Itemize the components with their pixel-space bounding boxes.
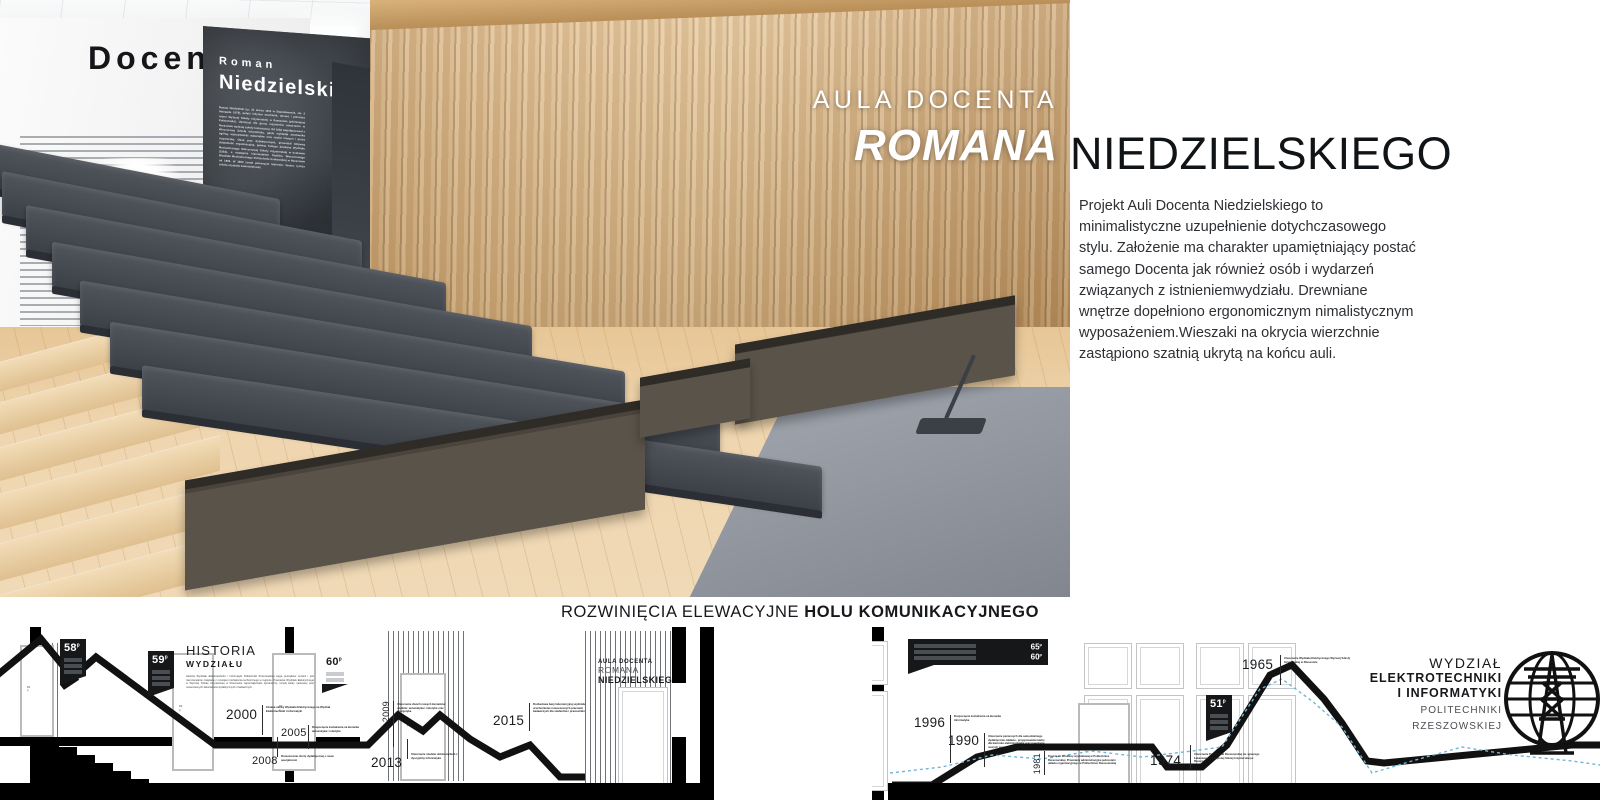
room-number: 58p	[60, 639, 86, 656]
microphone-base	[915, 418, 987, 434]
memorial-bio-text: Roman Niedzielski (ur. 21 marca 1911 w S…	[219, 106, 305, 174]
year-marker: 2009	[381, 701, 391, 722]
year-marker: 2013	[371, 755, 402, 770]
year-marker: 2008	[252, 755, 278, 767]
history-title: HISTORIA	[186, 643, 314, 658]
hero-title-italic: ROMANA	[813, 121, 1058, 171]
presentation-board: Docent Roman Niedzielski Roman Niedziels…	[0, 0, 1600, 800]
room-number: 51p	[1206, 695, 1232, 712]
faculty-logo-text: WYDZIAŁ ELEKTROTECHNIKI I INFORMATYKI PO…	[1302, 655, 1502, 733]
pylon-globe-logo-icon	[1502, 649, 1600, 759]
section-header-light: ROZWINIĘCIA ELEWACYJNE	[561, 603, 804, 621]
year-marker: 2000	[226, 707, 257, 722]
hero-title-overlay: AULA DOCENTA ROMANA	[813, 86, 1058, 171]
year-note: Rozpoczęcie kształcenia na kierunku auto…	[312, 726, 368, 733]
aula-label-line3: NIEDZIELSKIEGO	[598, 675, 680, 685]
leader-line	[1280, 655, 1281, 685]
year-note: Utworzenie pierwszych dla samodzielnego …	[988, 735, 1046, 749]
leader-line	[1190, 745, 1191, 769]
history-subtitle: WYDZIAŁU	[186, 659, 314, 669]
year-marker: 1996	[914, 715, 945, 730]
ground-line	[0, 783, 700, 800]
history-paragraph: Historia Wydziału Elektrotechniki i Info…	[186, 675, 314, 690]
elevation-drawing-left: D1p D2p D3p D4p 58p 59p 60p 61p	[0, 627, 714, 800]
year-note: Powrót do struktury wydziałowej w Polite…	[1048, 755, 1122, 766]
history-block: HISTORIA WYDZIAŁU Historia Wydziału Elek…	[186, 643, 314, 690]
logo-line-1: WYDZIAŁ	[1302, 655, 1502, 671]
logo-line-5: RZESZOWSKIEJ	[1302, 720, 1502, 733]
year-marker: 2005	[281, 727, 307, 739]
project-description-text: Projekt Auli Docenta Niedzielskiego to m…	[1079, 196, 1419, 366]
wall-end	[700, 627, 714, 800]
year-note: Utworzenie studiów doktoranckich z dyscy…	[411, 753, 469, 760]
aula-wall-label: AULA DOCENTA ROMANA NIEDZIELSKIEGO	[598, 659, 680, 685]
auditorium-render-photo: Docent Roman Niedzielski Roman Niedziels…	[0, 0, 1070, 597]
leader-line	[984, 733, 985, 767]
year-note: Utworzenie Politechniki Rzeszowskiej im.…	[1194, 753, 1264, 764]
room-tag: 58p	[60, 639, 86, 676]
leader-line	[529, 703, 530, 731]
leader-line	[308, 725, 309, 749]
year-marker: 1974	[1150, 753, 1181, 768]
year-marker: 1981	[1032, 753, 1042, 774]
logo-line-2: ELEKTROTECHNIKI	[1302, 671, 1502, 686]
leader-line	[1044, 751, 1045, 775]
leader-line	[262, 705, 263, 735]
year-note: Rozszerzenie oferty dydaktycznej o nowe …	[281, 755, 343, 762]
year-marker: 1990	[948, 733, 979, 748]
ground-line	[888, 783, 1600, 800]
description-column: NIEDZIELSKIEGO Projekt Auli Docenta Nied…	[1070, 0, 1600, 597]
year-note: Utworzenie dwóch nowych kierunków studió…	[397, 703, 457, 714]
year-note: Zmiana nazwy Wydziału Elektrycznego na W…	[266, 706, 338, 713]
leader-line	[407, 739, 408, 759]
leader-line	[393, 701, 394, 747]
logo-line-3: I INFORMATYKI	[1302, 686, 1502, 701]
leader-line	[277, 737, 278, 757]
room-tag: 59p	[148, 651, 174, 688]
room-tag: 60p	[322, 653, 348, 684]
year-note: Rozpoczęcie kształcenia na kierunku info…	[954, 715, 1006, 722]
year-marker: 1965	[1242, 657, 1273, 672]
room-number: 60p	[322, 653, 348, 670]
room-number: 59p	[148, 651, 174, 668]
structural-column	[672, 627, 686, 683]
section-header: ROZWINIĘCIA ELEWACYJNE HOLU KOMUNIKACYJN…	[0, 597, 1600, 627]
logo-line-4: POLITECHNIKI	[1302, 704, 1502, 717]
hero-title-small: AULA DOCENTA	[813, 86, 1058, 115]
hero-title-light: NIEDZIELSKIEGO	[1070, 128, 1452, 180]
room-tag: 51p	[1206, 695, 1232, 732]
aula-label-line2: ROMANA	[598, 665, 680, 675]
elevation-drawing-right: 65p 60p D5p 51p	[872, 627, 1600, 800]
section-header-bold: HOLU KOMUNIKACYJNEGO	[804, 603, 1039, 621]
year-marker: 2015	[493, 713, 524, 728]
